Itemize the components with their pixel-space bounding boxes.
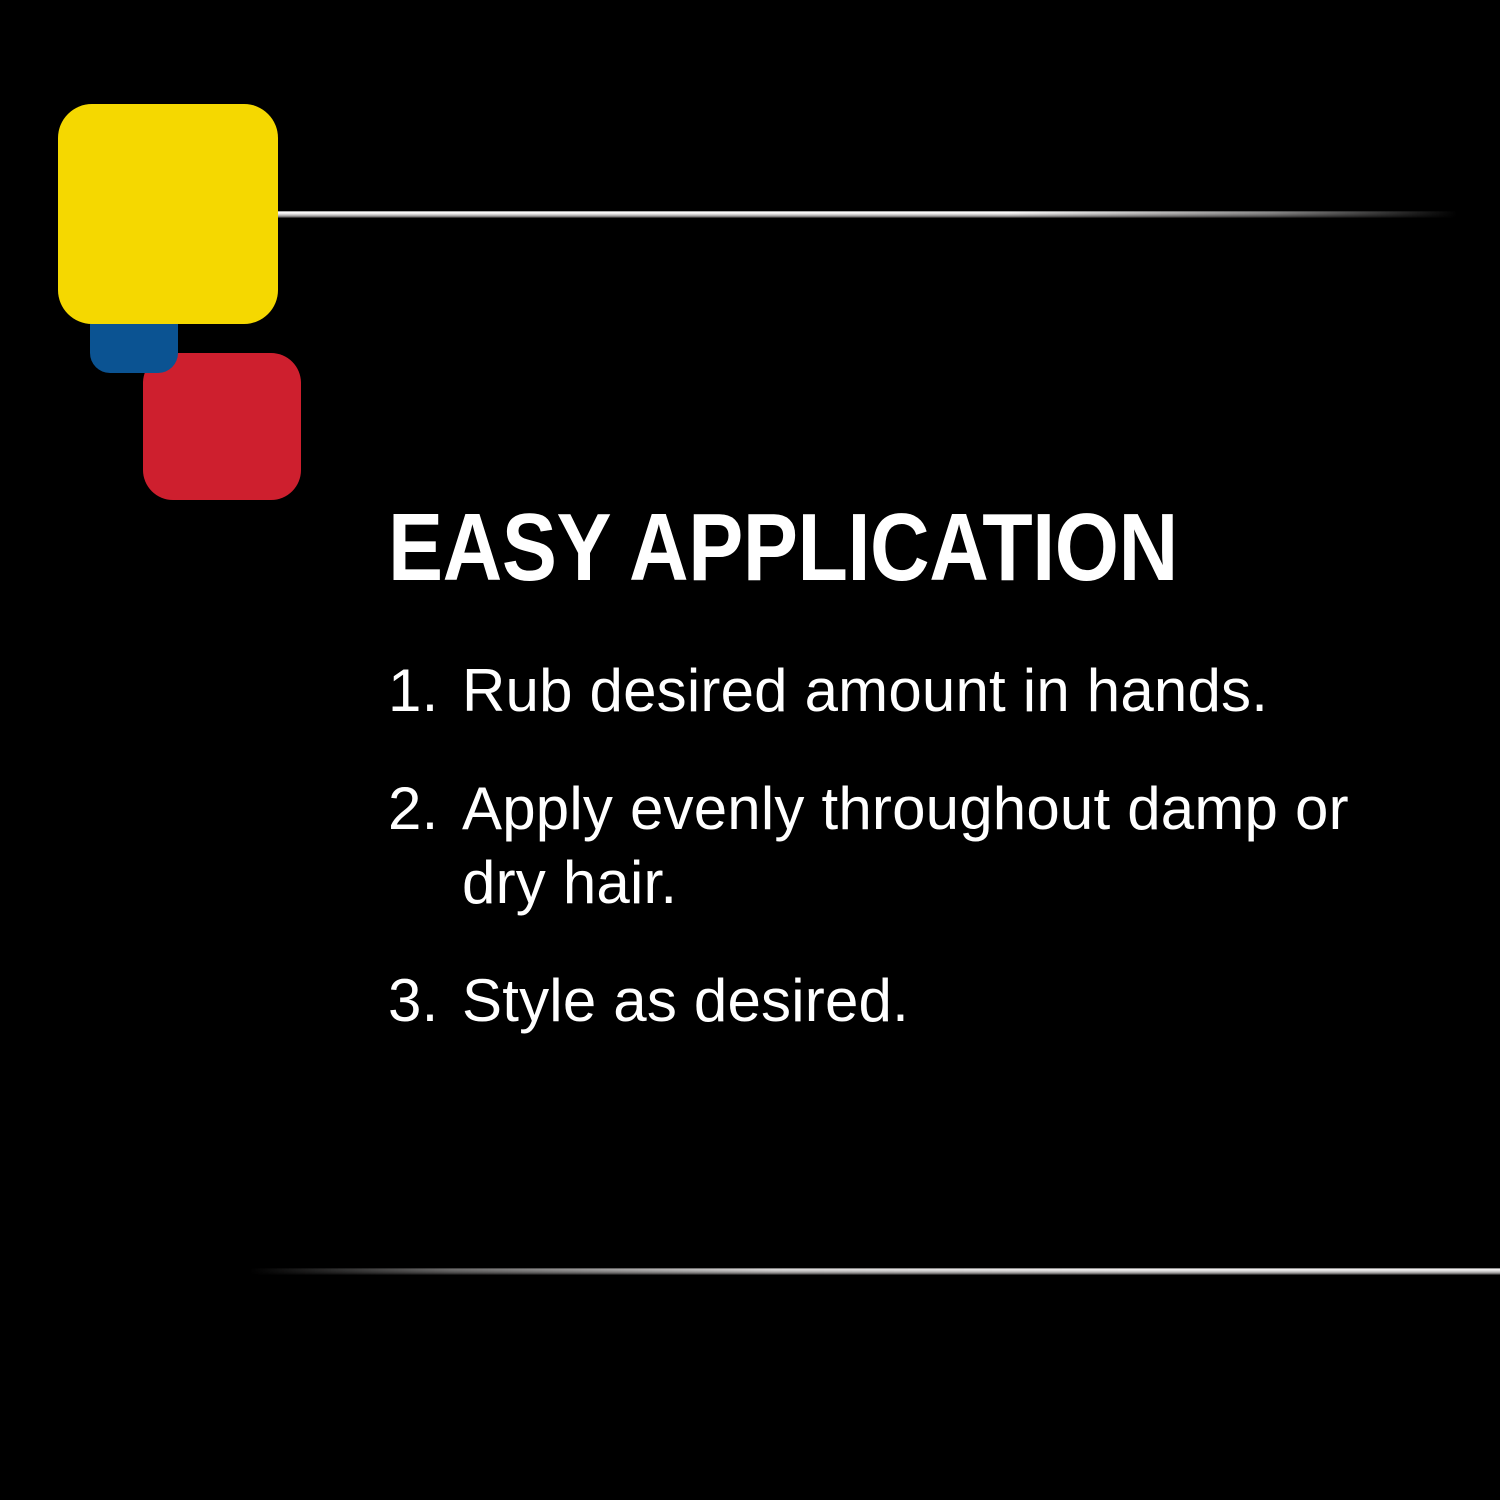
list-item: 1. Rub desired amount in hands. — [388, 654, 1448, 728]
yellow-square-icon — [58, 104, 278, 324]
application-steps-list: 1. Rub desired amount in hands. 2. Apply… — [388, 654, 1448, 1038]
red-square-icon — [143, 353, 301, 500]
step-text: Style as desired. — [462, 964, 1392, 1038]
step-number: 1. — [388, 654, 462, 728]
step-text: Rub desired amount in hands. — [462, 654, 1392, 728]
page-title: EASY APPLICATION — [388, 500, 1300, 596]
list-item: 2. Apply evenly throughout damp or dry h… — [388, 772, 1448, 920]
step-number: 2. — [388, 772, 462, 846]
content-block: EASY APPLICATION 1. Rub desired amount i… — [388, 500, 1448, 1038]
list-item: 3. Style as desired. — [388, 964, 1448, 1038]
product-info-panel: EASY APPLICATION 1. Rub desired amount i… — [0, 0, 1500, 1500]
step-text: Apply evenly throughout damp or dry hair… — [462, 772, 1392, 920]
tri-square-logo — [0, 0, 360, 520]
bottom-metallic-rule — [250, 1268, 1500, 1275]
top-metallic-rule — [277, 211, 1457, 218]
step-number: 3. — [388, 964, 462, 1038]
